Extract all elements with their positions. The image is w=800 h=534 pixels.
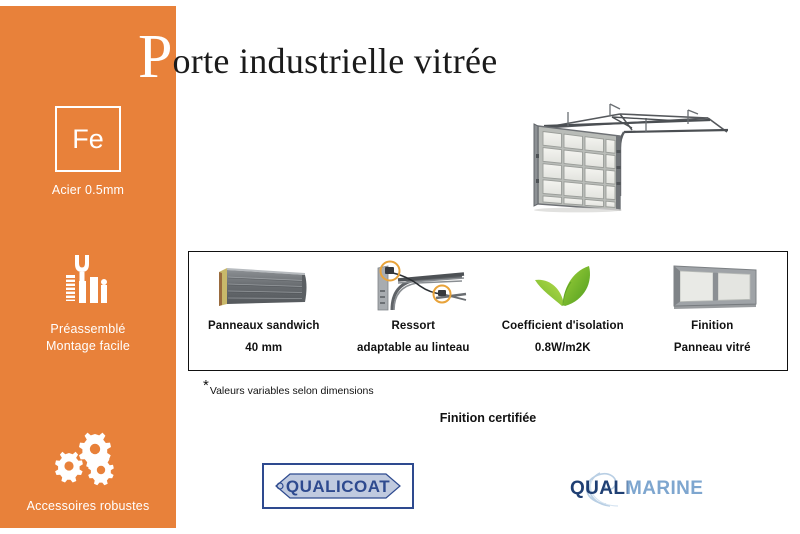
slide-page: Fe Acier 0.5mm (0, 0, 800, 534)
fe-square-icon: Fe (55, 106, 121, 172)
sandwich-panel-icon (189, 258, 339, 314)
feature-coefficient-isolation: Coefficient d'isolation 0.8W/m2K (488, 252, 638, 370)
qualimarine-wordmark-light: MARINE (626, 478, 703, 499)
sidebar-item-accessoires: Accessoires robustes (0, 426, 176, 515)
qualimarine-logo: QUALI MARINE (558, 466, 710, 510)
footnote-text: Valeurs variables selon dimensions (210, 385, 374, 397)
features-box: Panneaux sandwich 40 mm (188, 251, 788, 371)
feature-title: Panneaux sandwich (208, 320, 320, 332)
certified-label: Finition certifiée (188, 411, 788, 425)
industrial-glazed-door-photo (512, 84, 742, 224)
gears-icon (0, 426, 176, 488)
qualicoat-wordmark: QUALICOAT (286, 477, 390, 496)
feature-value: Panneau vitré (674, 342, 751, 354)
fe-symbol-label: Fe (72, 126, 104, 153)
qualicoat-logo: QUALICOAT (262, 463, 414, 509)
feature-value: 0.8W/m2K (535, 342, 591, 354)
feature-finition: Finition Panneau vitré (638, 252, 788, 370)
footnote: * Valeurs variables selon dimensions (203, 381, 374, 397)
spring-rail-icon (339, 258, 489, 314)
sidebar-item-acier-label: Acier 0.5mm (0, 182, 176, 199)
feature-value: adaptable au linteau (357, 342, 470, 354)
page-title: P orte industrielle vitrée (138, 22, 498, 82)
sidebar-item-preassemble: Préassemblé Montage facile (0, 249, 176, 355)
feature-value: 40 mm (245, 342, 282, 354)
wrench-tools-icon (0, 249, 176, 311)
feature-title: Coefficient d'isolation (502, 320, 624, 332)
feature-title: Ressort (391, 320, 435, 332)
feature-ressort: Ressort adaptable au linteau (339, 252, 489, 370)
sidebar-item-preassemble-label: Préassemblé (0, 321, 176, 338)
green-leaf-icon (488, 258, 638, 314)
sidebar-item-accessoires-label: Accessoires robustes (0, 498, 176, 515)
feature-panneaux-sandwich: Panneaux sandwich 40 mm (189, 252, 339, 370)
footnote-asterisk: * (203, 381, 209, 391)
glazed-panel-icon (638, 258, 788, 314)
qualimarine-wordmark-dark: QUALI (570, 478, 631, 499)
sidebar-item-acier: Fe Acier 0.5mm (0, 106, 176, 199)
feature-title: Finition (691, 320, 733, 332)
page-title-rest: orte industrielle vitrée (172, 43, 497, 79)
sidebar-item-preassemble-label2: Montage facile (0, 338, 176, 355)
page-title-capital: P (138, 26, 172, 88)
